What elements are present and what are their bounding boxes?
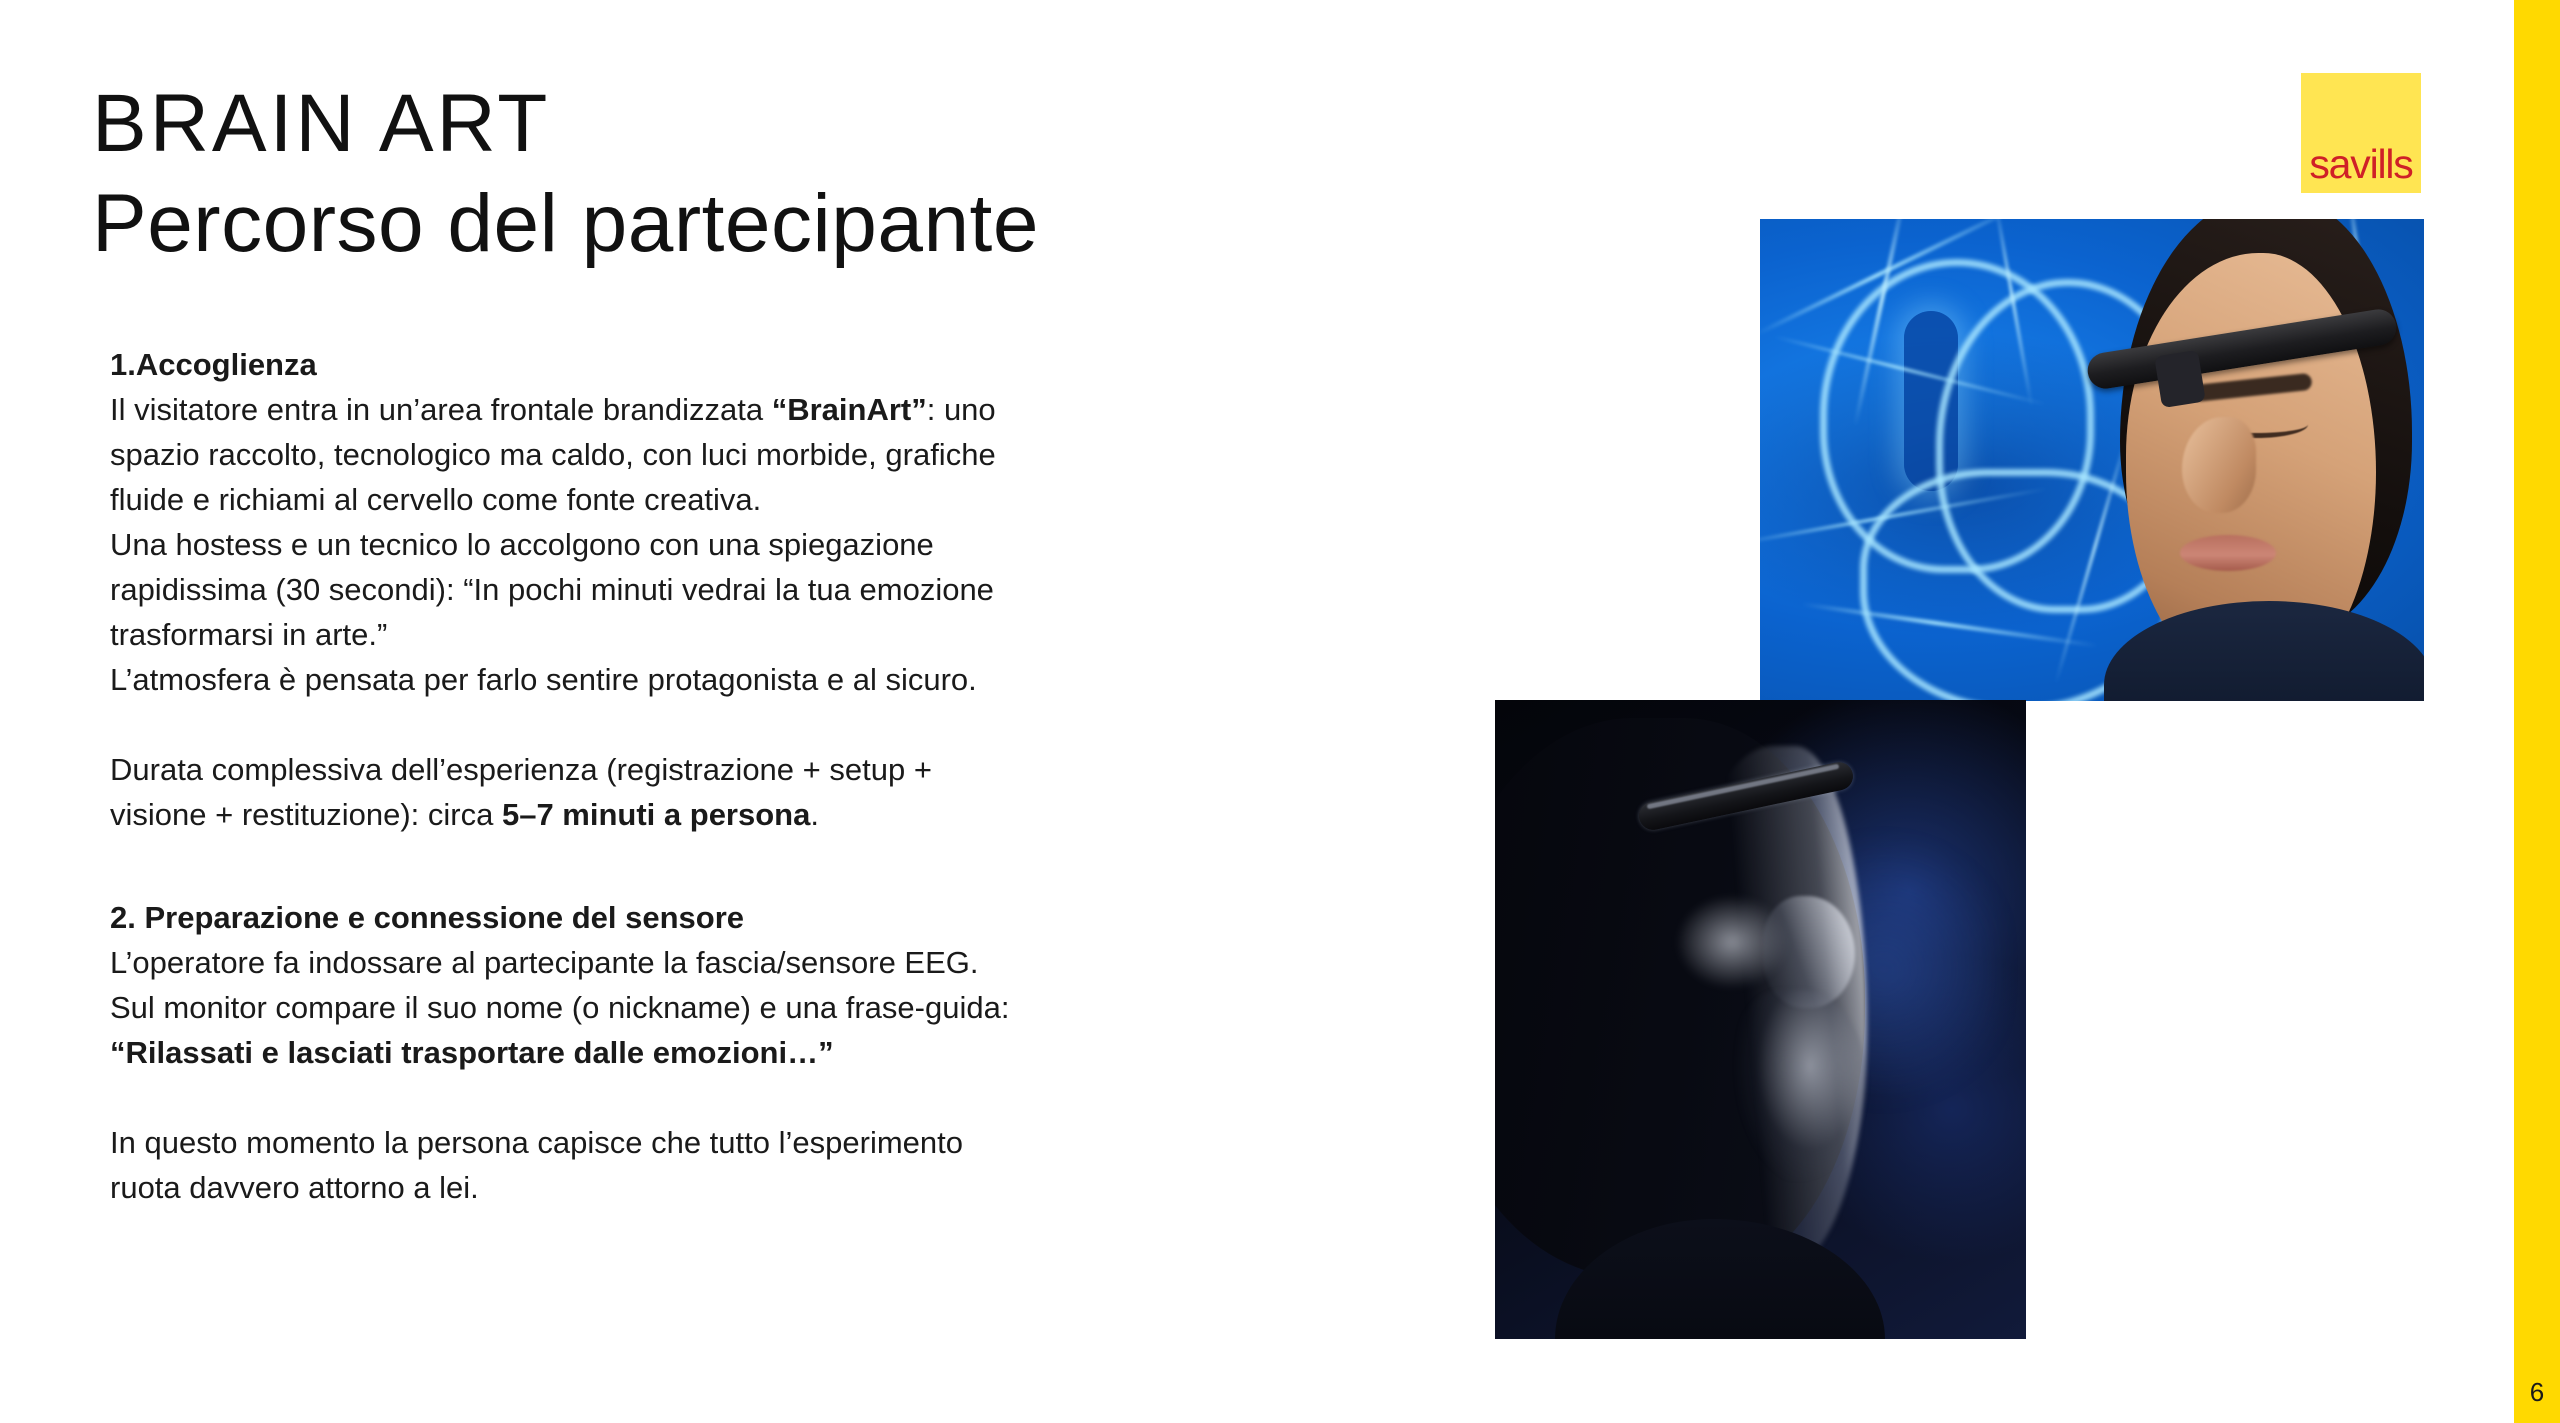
page-number: 6 — [2514, 1379, 2560, 1405]
eeg-woman-photo — [1760, 219, 2424, 701]
section-1-paragraph: Il visitatore entra in un’area frontale … — [110, 387, 1430, 702]
shoulder — [2104, 601, 2424, 701]
lips — [2180, 535, 2276, 571]
spacer — [110, 837, 1430, 895]
section-2-paragraph: L’operatore fa indossare al partecipante… — [110, 940, 1430, 1075]
duration-paragraph: Durata complessiva dell’esperienza (regi… — [110, 747, 1430, 837]
body-copy: 1.Accoglienza Il visitatore entra in un’… — [110, 342, 1430, 1210]
woman-portrait — [2064, 219, 2424, 701]
spacer — [110, 702, 1430, 747]
eeg-sensor-pad — [2154, 350, 2206, 408]
title-line-brain-art: BRAIN ART — [92, 78, 1592, 170]
closing-paragraph: In questo momento la persona capisce che… — [110, 1120, 1430, 1210]
nose — [2182, 417, 2256, 513]
savills-logo: savills — [2301, 73, 2421, 193]
profile-man-photo — [1495, 700, 2026, 1339]
accent-edge-bar — [2514, 0, 2560, 1423]
slide: 6 savills BRAIN ART Percorso del parteci… — [0, 0, 2560, 1423]
section-2-heading: 2. Preparazione e connessione del sensor… — [110, 895, 1430, 940]
title-line-percorso: Percorso del partecipante — [92, 178, 1592, 270]
section-1-heading: 1.Accoglienza — [110, 342, 1430, 387]
savills-logo-wordmark: savills — [2301, 144, 2421, 185]
page-title: BRAIN ART Percorso del partecipante — [92, 78, 1592, 270]
spacer — [110, 1075, 1430, 1120]
